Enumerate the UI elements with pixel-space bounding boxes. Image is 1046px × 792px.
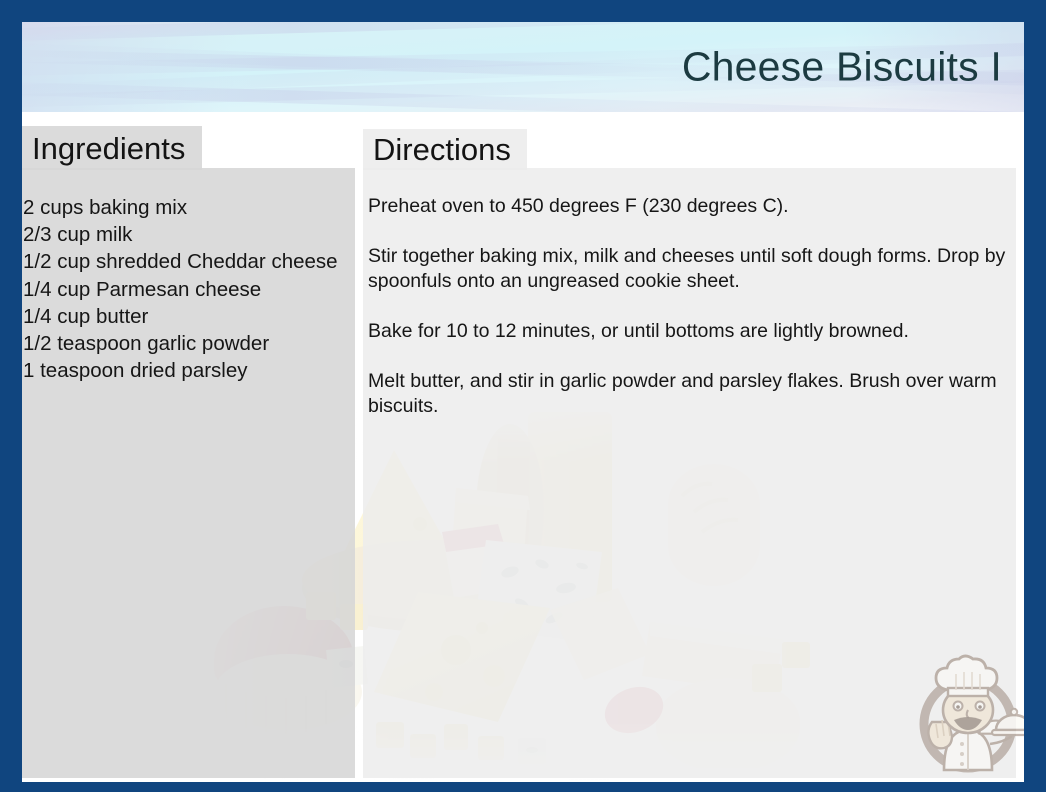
list-item: 2 cups baking mix bbox=[23, 194, 341, 221]
directions-heading-tab: Directions bbox=[363, 129, 527, 170]
slide-canvas: Cheese Biscuits I bbox=[22, 22, 1024, 782]
directions-list: Preheat oven to 450 degrees F (230 degre… bbox=[368, 194, 1016, 419]
list-item: 1/4 cup butter bbox=[23, 303, 341, 330]
recipe-slide: Cheese Biscuits I bbox=[0, 0, 1046, 792]
ingredients-list: 2 cups baking mix 2/3 cup milk 1/2 cup s… bbox=[22, 194, 341, 384]
direction-step: Melt butter, and stir in garlic powder a… bbox=[368, 369, 1016, 419]
list-item: 1/2 teaspoon garlic powder bbox=[23, 330, 341, 357]
ingredients-heading-tab: Ingredients bbox=[22, 126, 202, 170]
list-item: 2/3 cup milk bbox=[23, 221, 341, 248]
recipe-title: Cheese Biscuits I bbox=[682, 44, 1002, 89]
banner-streak bbox=[22, 22, 1024, 43]
direction-step: Bake for 10 to 12 minutes, or until bott… bbox=[368, 319, 1016, 344]
direction-step: Preheat oven to 450 degrees F (230 degre… bbox=[368, 194, 1016, 219]
ingredients-heading: Ingredients bbox=[32, 133, 185, 164]
title-banner: Cheese Biscuits I bbox=[22, 22, 1024, 112]
direction-step: Stir together baking mix, milk and chees… bbox=[368, 244, 1016, 294]
directions-heading: Directions bbox=[373, 134, 511, 165]
list-item: 1/4 cup Parmesan cheese bbox=[23, 276, 341, 303]
list-item: 1/2 cup shredded Cheddar cheese bbox=[23, 248, 341, 275]
list-item: 1 teaspoon dried parsley bbox=[23, 357, 341, 384]
